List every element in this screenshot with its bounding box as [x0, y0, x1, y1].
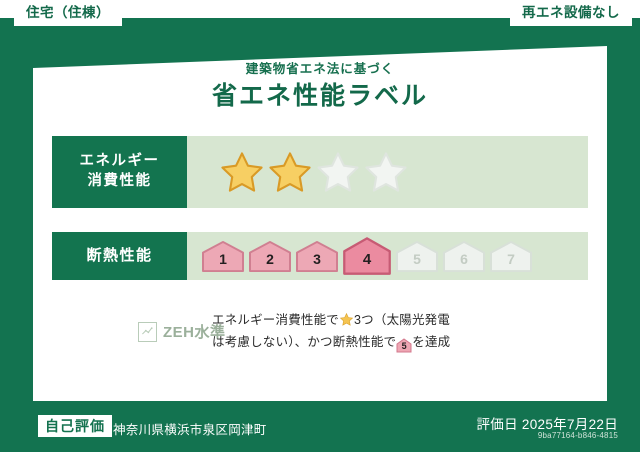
- star-filled: [267, 149, 313, 195]
- energy-performance-row: エネルギー 消費性能: [52, 136, 588, 208]
- label-footer: 自己評価 神奈川県横浜市泉区岡津町 評価日 2025年7月22日 9ba7716…: [0, 401, 640, 452]
- inline-star-icon: [339, 312, 354, 327]
- zeh-house-icon: [138, 322, 157, 342]
- zeh-note-part3: は考慮しない）、かつ断熱性能で: [212, 335, 396, 349]
- zeh-note-area: ZEH水準 エネルギー消費性能で 3つ（太陽光発電 は考慮しない）、かつ断熱性能…: [52, 310, 592, 354]
- zeh-note-part4: を達成: [412, 335, 450, 349]
- insulation-level-value: 2: [266, 252, 274, 273]
- star-filled: [219, 149, 265, 195]
- energy-label-line2: 消費性能: [88, 172, 152, 192]
- insulation-level-badge: 6: [442, 240, 486, 273]
- tab-renewable-status: 再エネ設備なし: [510, 0, 632, 26]
- star-rating: [187, 136, 588, 208]
- insulation-level-badge: 1: [201, 240, 245, 273]
- insulation-level-badge: 3: [295, 240, 339, 273]
- insulation-level-badge: 4: [342, 236, 392, 276]
- insulation-level-value: 3: [313, 252, 321, 273]
- zeh-note-part2: 3つ（太陽光発電: [354, 313, 450, 327]
- document-id: 9ba77164-b846-4815: [538, 431, 618, 440]
- insulation-level-badge: 5: [395, 240, 439, 273]
- zeh-note-part1: エネルギー消費性能で: [212, 313, 339, 327]
- inline-badge-value: 5: [396, 338, 412, 355]
- insulation-level-value: 5: [413, 252, 421, 273]
- energy-performance-label: エネルギー 消費性能: [52, 136, 187, 208]
- tab-building-type: 住宅（住棟）: [14, 0, 122, 26]
- page-title: 省エネ性能ラベル: [0, 76, 640, 112]
- insulation-level-scale: 1234567: [187, 232, 588, 280]
- zeh-criteria-text: エネルギー消費性能で 3つ（太陽光発電 は考慮しない）、かつ断熱性能で 5を達成: [212, 310, 450, 354]
- inline-insulation-badge: 5: [396, 338, 412, 353]
- evaluation-date: 評価日 2025年7月22日: [476, 413, 618, 433]
- insulation-level-value: 4: [363, 252, 371, 276]
- zeh-standard-marker: ZEH水準: [52, 321, 212, 342]
- star-empty: [315, 149, 361, 195]
- evaluation-type-badge: 自己評価: [38, 415, 112, 437]
- label-subtitle: 建築物省エネ法に基づく: [0, 58, 640, 77]
- insulation-level-value: 7: [507, 252, 515, 273]
- star-empty: [363, 149, 409, 195]
- energy-performance-label: 住宅（住棟） 再エネ設備なし 建築物省エネ法に基づく 省エネ性能ラベル エネルギ…: [0, 0, 640, 452]
- insulation-level-value: 6: [460, 252, 468, 273]
- insulation-performance-label: 断熱性能: [52, 232, 187, 280]
- insulation-level-badge: 7: [489, 240, 533, 273]
- insulation-performance-row: 断熱性能 1234567: [52, 232, 588, 280]
- insulation-level-value: 1: [219, 252, 227, 273]
- energy-label-line1: エネルギー: [80, 152, 160, 172]
- property-address: 神奈川県横浜市泉区岡津町: [113, 419, 267, 438]
- insulation-level-badge: 2: [248, 240, 292, 273]
